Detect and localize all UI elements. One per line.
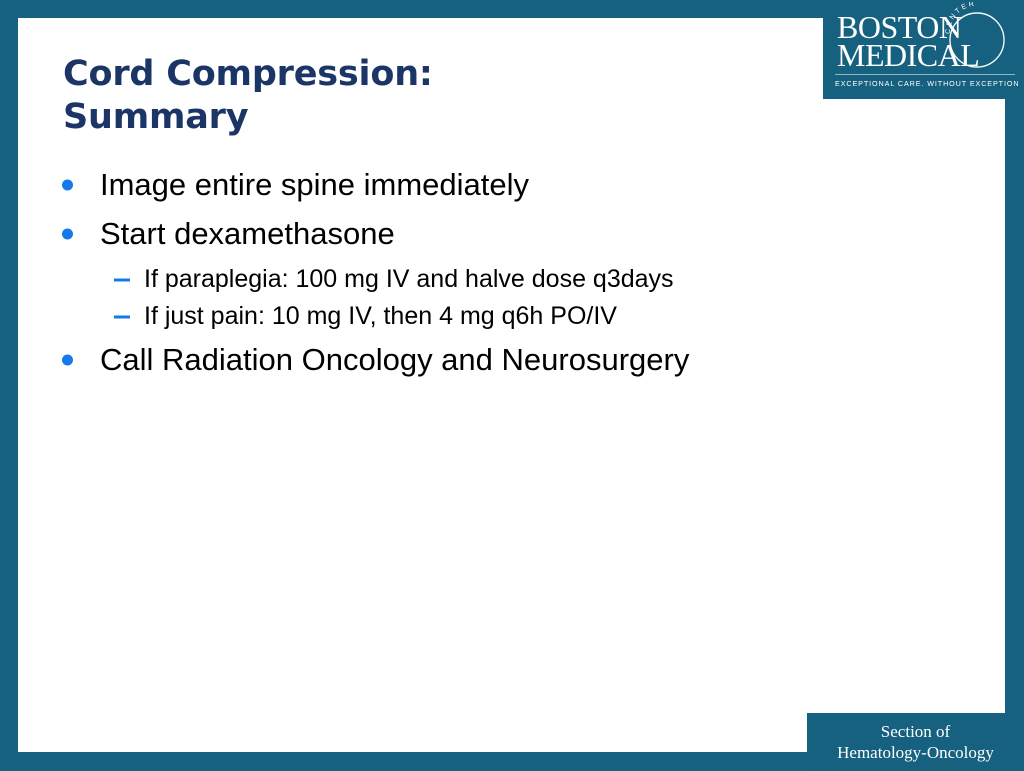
list-item-label: Call Radiation Oncology and Neurosurgery [100, 342, 689, 377]
sub-bullet-group: If paraplegia: 100 mg IV and halve dose … [58, 265, 978, 331]
list-item-label: Image entire spine immediately [100, 167, 529, 202]
logo-inner: CENTER BOSTON MEDICAL EXCEPTIONAL CARE. … [823, 0, 1024, 99]
page-title: Cord Compression: Summary [63, 53, 803, 139]
bullet-list: Image entire spine immediately Start dex… [58, 168, 978, 392]
list-item: Image entire spine immediately [58, 168, 978, 203]
page-title-line-1: Cord Compression: [63, 53, 803, 96]
bullet-dot-icon [62, 355, 73, 366]
bullet-dash-icon [114, 278, 130, 281]
logo-wordmark-icon: CENTER BOSTON MEDICAL [833, 2, 1019, 74]
logo-tagline-wrap: EXCEPTIONAL CARE. WITHOUT EXCEPTION [835, 74, 1015, 88]
boston-medical-center-logo: CENTER BOSTON MEDICAL EXCEPTIONAL CARE. … [823, 0, 1024, 99]
logo-word-medical: MEDICAL [837, 37, 979, 73]
logo-tagline: EXCEPTIONAL CARE. WITHOUT EXCEPTION [835, 79, 1015, 88]
department-badge-line-1: Section of [881, 721, 950, 742]
slide-canvas: Cord Compression: Summary Image entire s… [18, 18, 1005, 752]
sub-list-item-label: If just pain: 10 mg IV, then 4 mg q6h PO… [144, 302, 617, 330]
bullet-dash-icon [114, 315, 130, 318]
list-item: Call Radiation Oncology and Neurosurgery [58, 343, 978, 378]
sub-list-item: If just pain: 10 mg IV, then 4 mg q6h PO… [58, 302, 978, 331]
bullet-dot-icon [62, 180, 73, 191]
bullet-dot-icon [62, 229, 73, 240]
slide-frame: Cord Compression: Summary Image entire s… [0, 0, 1024, 768]
list-item: Start dexamethasone [58, 217, 978, 252]
sub-list-item: If paraplegia: 100 mg IV and halve dose … [58, 265, 978, 294]
page-title-line-2: Summary [63, 96, 803, 139]
list-item-label: Start dexamethasone [100, 216, 395, 251]
department-badge-line-2: Hematology-Oncology [837, 742, 994, 763]
department-badge: Section of Hematology-Oncology [807, 713, 1024, 771]
sub-list-item-label: If paraplegia: 100 mg IV and halve dose … [144, 265, 674, 293]
